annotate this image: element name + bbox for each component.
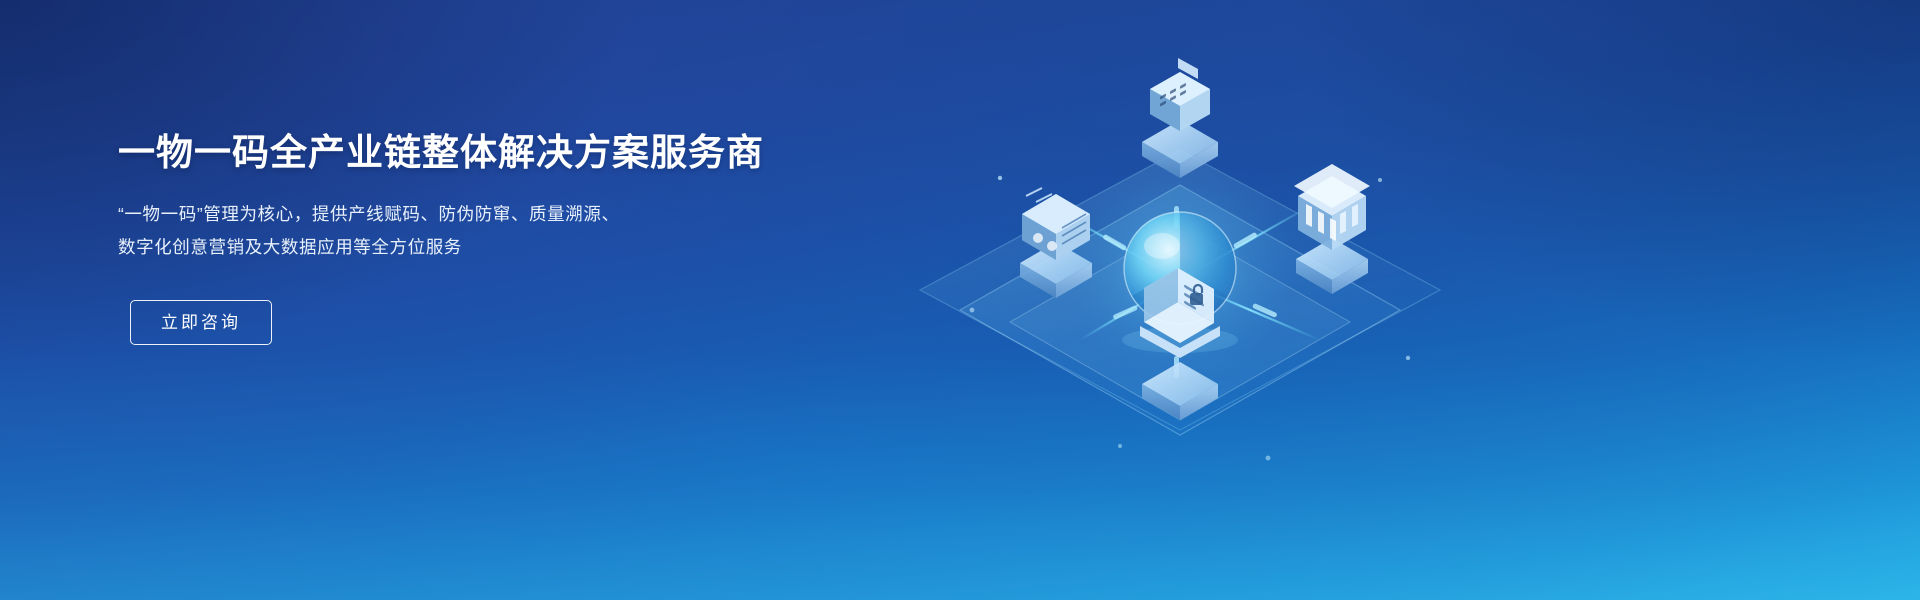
hero-banner: 一物一码全产业链整体解决方案服务商 “一物一码”管理为核心，提供产线赋码、防伪防… xyxy=(0,0,1920,600)
consult-now-button[interactable]: 立即咨询 xyxy=(130,300,272,345)
hero-illustration xyxy=(880,10,1500,590)
hero-subtitle: “一物一码”管理为核心，提供产线赋码、防伪防窜、质量溯源、 数字化创意营销及大数… xyxy=(118,198,878,264)
page-title: 一物一码全产业链整体解决方案服务商 xyxy=(118,130,878,176)
hero-subtitle-line-1: “一物一码”管理为核心，提供产线赋码、防伪防窜、质量溯源、 xyxy=(118,198,878,231)
hero-copy-block: 一物一码全产业链整体解决方案服务商 “一物一码”管理为核心，提供产线赋码、防伪防… xyxy=(118,130,878,345)
hero-subtitle-line-2: 数字化创意营销及大数据应用等全方位服务 xyxy=(118,231,878,264)
pos-terminal-icon xyxy=(1142,58,1218,178)
bank-building-icon xyxy=(1294,164,1370,294)
